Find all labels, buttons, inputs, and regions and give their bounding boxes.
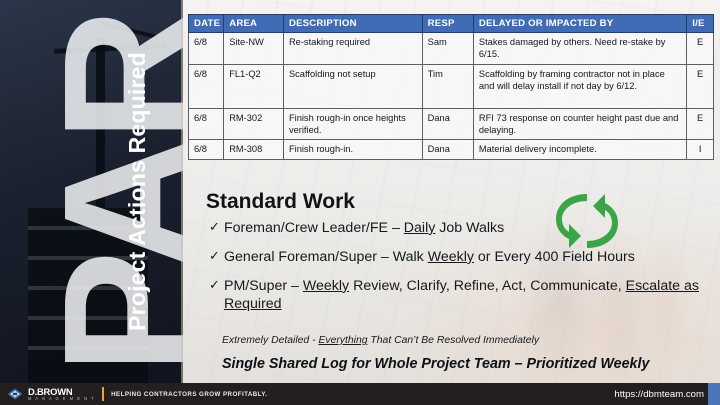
cell-area: RM-302 xyxy=(224,108,284,140)
cell-description: Finish rough-in. xyxy=(283,140,422,159)
cell-ie: E xyxy=(687,64,714,108)
check-icon: ✓ xyxy=(209,248,224,265)
cell-description: Scaffolding not setup xyxy=(283,64,422,108)
tagline-detail: Extremely Detailed - Everything That Can… xyxy=(222,335,539,346)
slide-canvas: PAR Project Actions Required DATE AREA D… xyxy=(0,0,720,405)
table-body: 6/8 Site-NW Re-staking required Sam Stak… xyxy=(189,33,714,160)
standard-work-heading: Standard Work xyxy=(206,190,355,214)
standard-work-item-text: Foreman/Crew Leader/FE – Daily Job Walks xyxy=(224,219,709,237)
col-header-resp[interactable]: RESP xyxy=(422,15,473,33)
cell-delayed-by: RFI 73 response on counter height past d… xyxy=(473,108,686,140)
cell-description: Re-staking required xyxy=(283,33,422,65)
cell-resp: Sam xyxy=(422,33,473,65)
cell-ie: E xyxy=(687,108,714,140)
table-row[interactable]: 6/8 Site-NW Re-staking required Sam Stak… xyxy=(189,33,714,65)
cell-resp: Dana xyxy=(422,140,473,159)
standard-work-item-text: General Foreman/Super – Walk Weekly or E… xyxy=(224,248,709,266)
col-header-delayed-by[interactable]: DELAYED OR IMPACTED BY xyxy=(473,15,686,33)
dbrown-logo-icon xyxy=(6,386,24,402)
cell-date: 6/8 xyxy=(189,33,224,65)
check-icon: ✓ xyxy=(209,277,224,294)
cell-date: 6/8 xyxy=(189,64,224,108)
panel-edge-divider xyxy=(181,0,183,383)
standard-work-item-text: PM/Super – Weekly Review, Clarify, Refin… xyxy=(224,277,709,314)
list-item: ✓ General Foreman/Super – Walk Weekly or… xyxy=(209,248,709,266)
cell-ie: E xyxy=(687,33,714,65)
cell-area: Site-NW xyxy=(224,33,284,65)
cell-date: 6/8 xyxy=(189,108,224,140)
table-row[interactable]: 6/8 FL1-Q2 Scaffolding not setup Tim Sca… xyxy=(189,64,714,108)
list-item: ✓ PM/Super – Weekly Review, Clarify, Ref… xyxy=(209,277,709,314)
col-header-ie[interactable]: I/E xyxy=(687,15,714,33)
brand-subname: M A N A G E M E N T xyxy=(28,397,95,401)
footer-url[interactable]: https://dbmteam.com xyxy=(614,389,720,400)
crane-mast-silhouette xyxy=(96,38,105,213)
tagline-headline: Single Shared Log for Whole Project Team… xyxy=(222,356,649,372)
cell-delayed-by: Material delivery incomplete. xyxy=(473,140,686,159)
table-head: DATE AREA DESCRIPTION RESP DELAYED OR IM… xyxy=(189,15,714,33)
cell-resp: Tim xyxy=(422,64,473,108)
list-item: ✓ Foreman/Crew Leader/FE – Daily Job Wal… xyxy=(209,219,709,237)
footer-divider xyxy=(102,387,104,401)
table-row[interactable]: 6/8 RM-308 Finish rough-in. Dana Materia… xyxy=(189,140,714,159)
footer-tagline: HELPING CONTRACTORS GROW PROFITABLY. xyxy=(111,391,267,398)
table-row[interactable]: 6/8 RM-302 Finish rough-in once heights … xyxy=(189,108,714,140)
cell-resp: Dana xyxy=(422,108,473,140)
footer-accent-square xyxy=(708,383,720,405)
brand-logo-text: D.BROWN M A N A G E M E N T xyxy=(28,387,95,402)
cell-description: Finish rough-in once heights verified. xyxy=(283,108,422,140)
col-header-date[interactable]: DATE xyxy=(189,15,224,33)
left-title-panel: PAR Project Actions Required xyxy=(0,0,183,383)
cell-area: RM-308 xyxy=(224,140,284,159)
col-header-description[interactable]: DESCRIPTION xyxy=(283,15,422,33)
footer-bar: D.BROWN M A N A G E M E N T HELPING CONT… xyxy=(0,383,720,405)
project-actions-table: DATE AREA DESCRIPTION RESP DELAYED OR IM… xyxy=(188,14,714,160)
cell-ie: I xyxy=(687,140,714,159)
cycle-arrows-icon xyxy=(548,186,626,256)
vertical-slide-title: Project Actions Required xyxy=(106,0,168,383)
cell-delayed-by: Stakes damaged by others. Need re-stake … xyxy=(473,33,686,65)
cell-delayed-by: Scaffolding by framing contractor not in… xyxy=(473,64,686,108)
brand-logo[interactable]: D.BROWN M A N A G E M E N T xyxy=(0,386,95,402)
brand-name: D.BROWN xyxy=(28,387,95,396)
col-header-area[interactable]: AREA xyxy=(224,15,284,33)
vertical-slide-title-text: Project Actions Required xyxy=(124,52,151,331)
standard-work-list: ✓ Foreman/Crew Leader/FE – Daily Job Wal… xyxy=(209,219,709,324)
cell-date: 6/8 xyxy=(189,140,224,159)
cell-area: FL1-Q2 xyxy=(224,64,284,108)
check-icon: ✓ xyxy=(209,219,224,236)
table-header-row: DATE AREA DESCRIPTION RESP DELAYED OR IM… xyxy=(189,15,714,33)
